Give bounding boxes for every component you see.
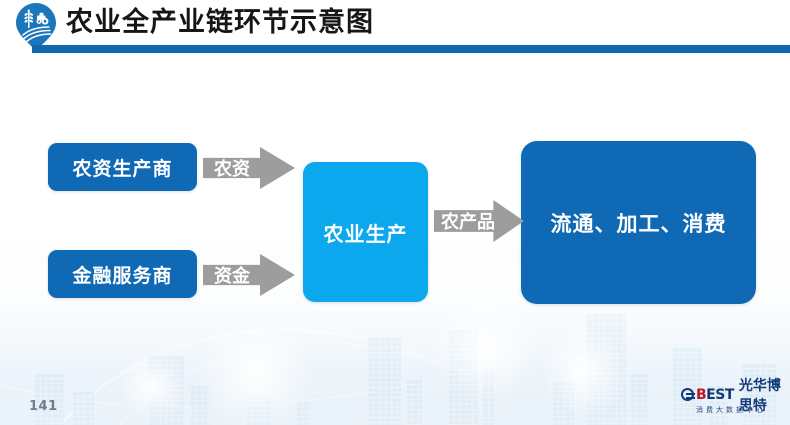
node-agricultural-production[interactable]: 农业生产 xyxy=(303,162,428,302)
brand-emblem-icon xyxy=(681,388,694,401)
page-title: 农业全产业链环节示意图 xyxy=(66,6,374,40)
brand-logo: BEST 光华博思特 消费大数据中心 xyxy=(681,386,781,416)
node-input-supplier[interactable]: 农资生产商 xyxy=(48,143,197,191)
page-number: 141 xyxy=(29,399,58,414)
brand-name: BEST xyxy=(696,387,734,403)
arrow-label-agricultural-inputs: 农资 xyxy=(203,155,250,181)
node-distribution-processing-consumption[interactable]: 流通、加工、消费 xyxy=(521,141,756,304)
node-financial-service[interactable]: 金融服务商 xyxy=(48,250,197,298)
arrow-label-capital: 资金 xyxy=(203,262,250,288)
arrow-agricultural-products: 农产品 xyxy=(434,200,524,242)
arrow-label-agricultural-products: 农产品 xyxy=(434,208,495,234)
slide-canvas: 农业全产业链环节示意图 农资生产商 金融服务商 农业生产 流通、加工、消费 农资… xyxy=(0,0,790,425)
arrow-agricultural-inputs: 农资 xyxy=(203,147,295,189)
header-divider-bar xyxy=(32,45,790,53)
arrow-capital: 资金 xyxy=(203,254,295,296)
slide-header: 农业全产业链环节示意图 xyxy=(0,0,790,56)
